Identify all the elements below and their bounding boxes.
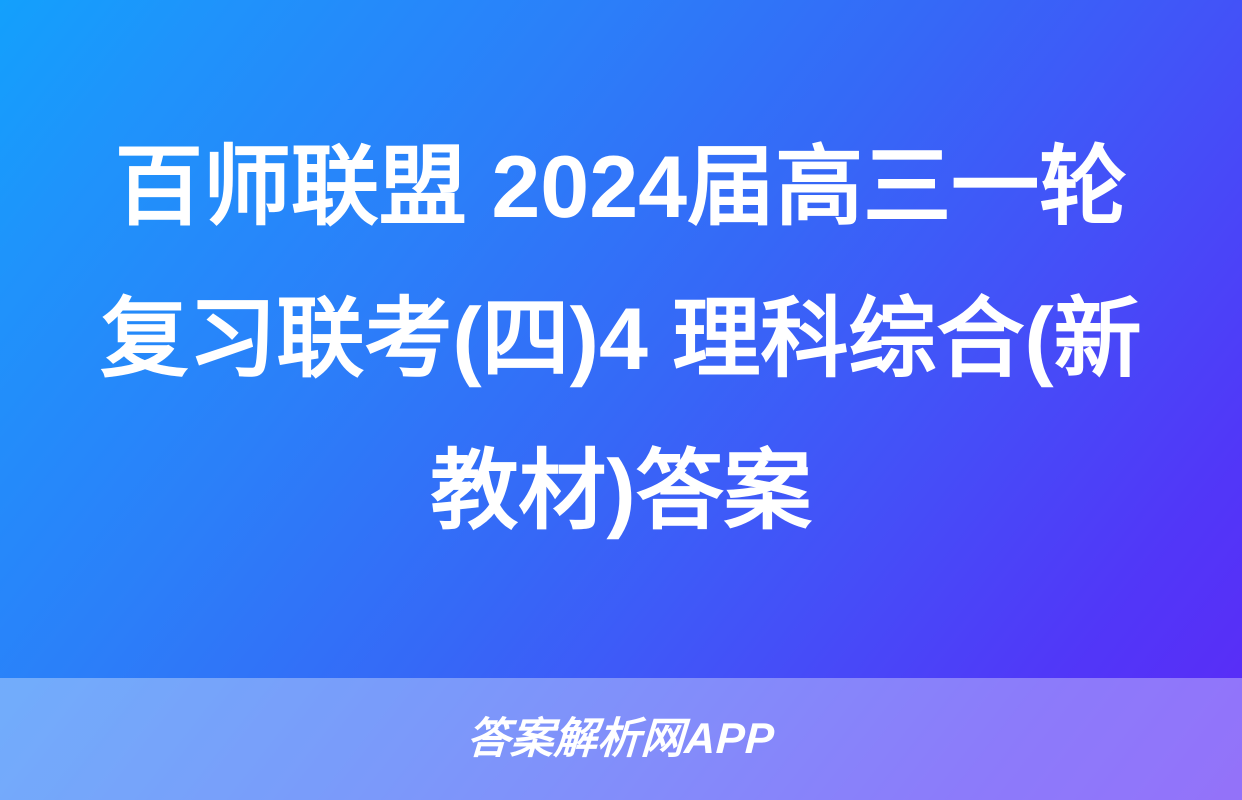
page-title: 百师联盟 2024届高三一轮复习联考(四)4 理科综合(新教材)答案 bbox=[80, 111, 1162, 567]
headline-area: 百师联盟 2024届高三一轮复习联考(四)4 理科综合(新教材)答案 bbox=[0, 0, 1242, 678]
brand-watermark: 答案解析网APP bbox=[466, 718, 776, 761]
poster-canvas: 百师联盟 2024届高三一轮复习联考(四)4 理科综合(新教材)答案 答案解析网… bbox=[0, 0, 1242, 800]
watermark-band: 答案解析网APP bbox=[0, 678, 1242, 800]
